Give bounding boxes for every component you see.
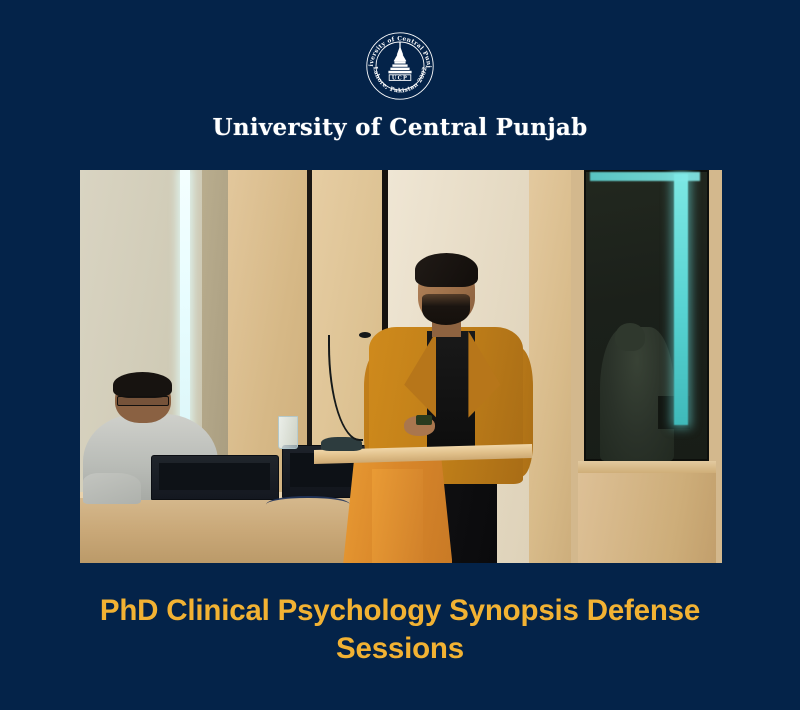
window-silhouette-head bbox=[615, 323, 645, 351]
brand-header: University of Central Punjab Lahore, Pak… bbox=[212, 26, 587, 141]
eyeglasses-icon bbox=[117, 396, 168, 406]
podium-column bbox=[372, 469, 423, 563]
event-photo-scene bbox=[80, 170, 722, 563]
laptop-one bbox=[151, 455, 279, 500]
window-cyan-light bbox=[674, 174, 688, 426]
window-top-light bbox=[590, 172, 699, 181]
university-wordmark: University of Central Punjab bbox=[212, 114, 587, 141]
poster-canvas: University of Central Punjab Lahore, Pak… bbox=[0, 0, 800, 710]
ucp-seal-icon: University of Central Punjab Lahore, Pak… bbox=[360, 26, 440, 106]
window-lower-panel bbox=[578, 473, 716, 563]
presentation-clicker bbox=[416, 415, 433, 424]
poster-caption: PhD Clinical Psychology Synopsis Defense… bbox=[0, 592, 800, 669]
seated-operator-arm bbox=[83, 473, 141, 504]
caption-line-1: PhD Clinical Psychology Synopsis Defense bbox=[100, 594, 700, 627]
seated-operator-hair bbox=[113, 372, 172, 398]
water-glass bbox=[278, 416, 299, 450]
desk-cable bbox=[266, 496, 349, 505]
window-sill bbox=[578, 461, 716, 473]
speaker-hair bbox=[415, 253, 478, 287]
wood-panel-d bbox=[529, 170, 571, 563]
caption-line-2: Sessions bbox=[336, 632, 464, 665]
event-photo bbox=[80, 170, 722, 563]
svg-text:UCP: UCP bbox=[392, 75, 408, 81]
